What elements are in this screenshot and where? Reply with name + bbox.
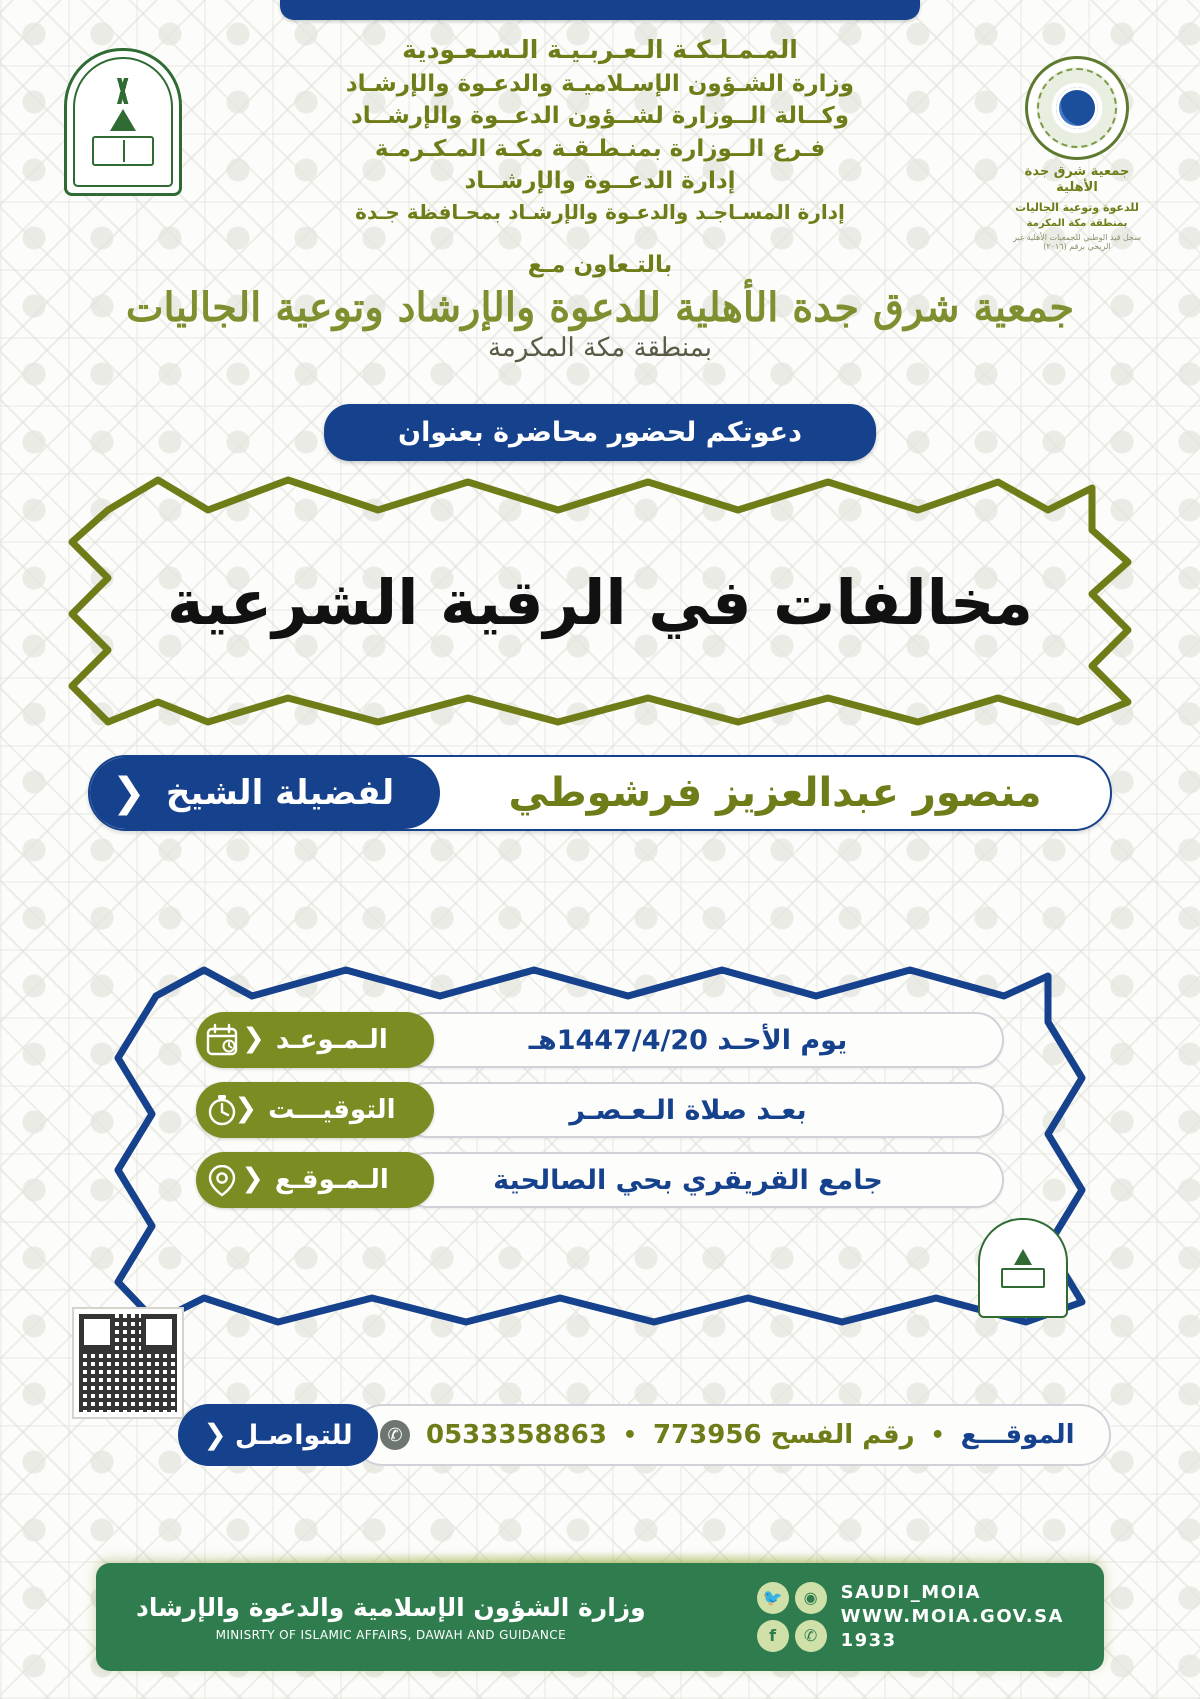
- cooperation-with-label: بالتـعاون مـع: [0, 252, 1200, 278]
- globe-icon: [1056, 87, 1098, 129]
- detail-row-date: الـمـوعـد ❮ يوم الأحـد 1447/4/20هـ: [196, 1012, 1004, 1068]
- detail-row-time: التوقيـــت ❮ بعـد صلاة الـعـصـر: [196, 1082, 1004, 1138]
- association-seal-icon: [1025, 56, 1129, 160]
- footer-handle: SAUDI_MOIA: [841, 1581, 1064, 1605]
- invitation-banner: دعوتكم لحضور محاضرة بعنوان: [324, 404, 876, 461]
- header: جمعية شرق جدة الأهلية للدعوة وتوعية الجا…: [0, 26, 1200, 252]
- association-logo-sub: للدعوة وتوعية الجاليات: [1002, 201, 1152, 215]
- contact-permit: رقم الفسح 773956: [653, 1420, 915, 1450]
- detail-value-date: يوم الأحـد 1447/4/20هـ: [400, 1012, 1004, 1068]
- detail-label-date-text: الـمـوعـد: [276, 1025, 388, 1055]
- contact-phone[interactable]: 0533358863: [426, 1420, 607, 1450]
- open-book-icon: [1001, 1268, 1045, 1288]
- top-blue-tab: [280, 0, 920, 20]
- detail-row-location: الـمـوقـع ❮ جامع القريقري بحي الصالحية: [196, 1152, 1004, 1208]
- twitter-icon[interactable]: 🐦: [757, 1582, 789, 1614]
- footer: وزارة الشؤون الإسلامية والدعوة والإرشاد …: [96, 1563, 1104, 1671]
- ministry-emblem: [48, 26, 198, 196]
- association-logo: جمعية شرق جدة الأهلية للدعوة وتوعية الجا…: [1002, 26, 1152, 252]
- crossed-swords-icon: [95, 78, 151, 104]
- contact-separator-1: •: [623, 1423, 637, 1448]
- qr-code[interactable]: [72, 1307, 184, 1419]
- association-logo-registry: سجل قيد الوطني للجمعيات الأهلية غير الرب…: [1002, 233, 1152, 252]
- ministry-heading-block: المـمـلـكـة الـعـربـيـة الـسـعـودية وزار…: [198, 26, 1002, 227]
- palm-tree-icon: [1014, 1249, 1032, 1265]
- open-book-icon: [92, 136, 154, 166]
- ministry-line-2: وزارة الشـؤون الإسـلاميـة والدعـوة والإر…: [198, 68, 1002, 101]
- footer-ministry-ar: وزارة الشؤون الإسلامية والدعوة والإرشاد: [136, 1593, 646, 1622]
- cooperation-association: جمعية شرق جدة الأهلية للدعوة والإرشاد وت…: [0, 284, 1200, 331]
- ministry-line-6: إدارة المسـاجـد والدعـوة والإرشـاد بمحـا…: [198, 198, 1002, 226]
- phone-icon[interactable]: ✆: [795, 1620, 827, 1652]
- footer-ministry-block: وزارة الشؤون الإسلامية والدعوة والإرشاد …: [136, 1593, 646, 1642]
- speaker-label-text: لفضيلة الشيخ: [166, 773, 394, 813]
- details-rows: الـمـوعـد ❮ يوم الأحـد 1447/4/20هـ التوق…: [196, 1012, 1004, 1208]
- speaker-name: منصور عبدالعزيز فرشوطي: [440, 757, 1110, 829]
- clock-icon: [204, 1092, 240, 1128]
- ministry-emblem-icon: [64, 48, 182, 196]
- poster-root: جمعية شرق جدة الأهلية للدعوة وتوعية الجا…: [0, 0, 1200, 1699]
- instagram-icon[interactable]: ◉: [795, 1582, 827, 1614]
- contact-site-link[interactable]: الموقـــع: [961, 1420, 1075, 1450]
- ministry-line-4: فـرع الــوزارة بمنـطـقـة مكـة المـكـرمـة: [198, 133, 1002, 166]
- footer-text-lines: SAUDI_MOIA WWW.MOIA.GOV.SA 1933: [841, 1581, 1064, 1654]
- association-logo-name: جمعية شرق جدة الأهلية: [1002, 164, 1152, 197]
- speaker-label: ❮ لفضيلة الشيخ: [90, 757, 440, 829]
- lecture-title: مخالفات في الرقية الشرعية: [38, 470, 1162, 735]
- detail-label-time: التوقيـــت ❮: [196, 1082, 434, 1138]
- contact-values: ✆ 0533358863 • رقم الفسح 773956 • الموقـ…: [352, 1404, 1111, 1466]
- contact-bar: للتواصـل ❮ ✆ 0533358863 • رقم الفسح 7739…: [178, 1404, 1022, 1466]
- lecture-title-frame: مخالفات في الرقية الشرعية: [38, 470, 1162, 735]
- footer-website: WWW.MOIA.GOV.SA: [841, 1605, 1064, 1629]
- ministry-line-1: المـمـلـكـة الـعـربـيـة الـسـعـودية: [198, 32, 1002, 68]
- footer-hotline: 1933: [841, 1629, 1064, 1653]
- contact-separator-2: •: [931, 1423, 945, 1448]
- detail-value-time: بعـد صلاة الـعـصـر: [400, 1082, 1004, 1138]
- detail-label-location: الـمـوقـع ❮: [196, 1152, 434, 1208]
- speaker-bar: ❮ لفضيلة الشيخ منصور عبدالعزيز فرشوطي: [88, 755, 1112, 831]
- qr-code-image: [79, 1314, 177, 1412]
- association-logo-region: بمنطقة مكة المكرمة: [1002, 218, 1152, 231]
- contact-label: للتواصـل ❮: [178, 1404, 378, 1466]
- cooperation-region: بمنطقة مكة المكرمة: [0, 333, 1200, 363]
- ministry-line-5: إدارة الدعــوة والإرشــاد: [198, 165, 1002, 198]
- footer-contact-block: 🐦 ◉ f ✆ SAUDI_MOIA WWW.MOIA.GOV.SA 1933: [757, 1581, 1064, 1654]
- detail-label-location-text: الـمـوقـع: [275, 1165, 389, 1195]
- facebook-icon[interactable]: f: [757, 1620, 789, 1652]
- palm-tree-icon: [110, 109, 136, 131]
- ministry-line-3: وكــالة الــوزارة لشــؤون الدعــوة والإر…: [198, 100, 1002, 133]
- calendar-icon: [204, 1022, 240, 1058]
- detail-value-location: جامع القريقري بحي الصالحية: [400, 1152, 1004, 1208]
- footer-ministry-en: MINISRTY OF ISLAMIC AFFAIRS, DAWAH AND G…: [136, 1628, 646, 1642]
- footer-social-icons: 🐦 ◉ f ✆: [757, 1582, 827, 1652]
- contact-label-text: للتواصـل: [235, 1420, 353, 1451]
- cooperation-block: بالتـعاون مـع جمعية شرق جدة الأهلية للدع…: [0, 252, 1200, 363]
- ministry-mini-emblem-icon: [978, 1218, 1068, 1318]
- detail-label-time-text: التوقيـــت: [268, 1095, 395, 1125]
- whatsapp-icon[interactable]: ✆: [380, 1420, 410, 1450]
- detail-label-date: الـمـوعـد ❮: [196, 1012, 434, 1068]
- location-pin-icon: [204, 1162, 240, 1198]
